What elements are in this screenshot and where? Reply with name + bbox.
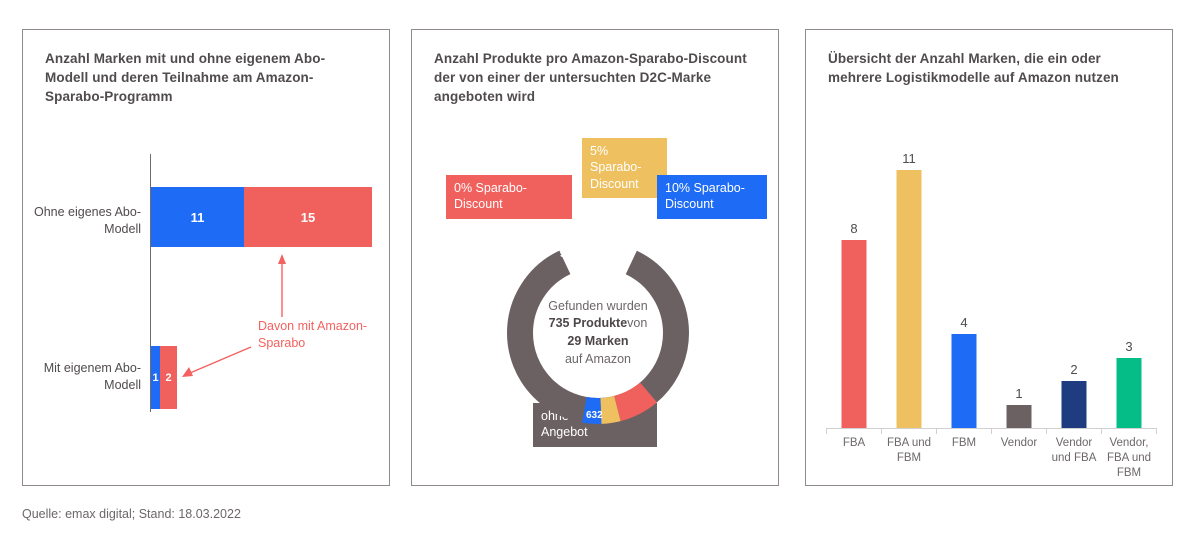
donut-center-produkte: 735 Produkte: [549, 316, 628, 330]
chart3-tick-5: [1101, 428, 1102, 434]
donut-value-10-percent: 25: [613, 251, 624, 262]
donut-value-0-percent: 53: [560, 249, 571, 260]
chart3-value-fba: 8: [850, 221, 857, 236]
panel-logistikmodelle: Übersicht der Anzahl Marken, die ein ode…: [805, 29, 1173, 486]
callout-5-percent: 5% Sparabo-Discount: [582, 138, 667, 198]
chart3-bar-fba-und-fbm: [897, 170, 922, 428]
chart1-annotation-text: Davon mit Amazon-Sparabo: [258, 318, 389, 351]
chart3-value-vendor-und-fba: 2: [1070, 362, 1077, 377]
chart1-category-label-2: Mit eigenem Abo-Modell: [31, 360, 141, 393]
chart3-group-vendor-fba-und-fbm: 3: [1103, 170, 1155, 428]
chart3-value-fbm: 4: [960, 315, 967, 330]
chart3-group-vendor: 1: [993, 170, 1045, 428]
chart3-value-vendor-fba-und-fbm: 3: [1125, 339, 1132, 354]
chart3-bar-fbm: [952, 334, 977, 428]
chart3-catlabel-fba: FBA: [826, 436, 882, 451]
chart1-stacked-row-1: 11 15: [151, 187, 372, 247]
chart3-tick-0: [826, 428, 827, 434]
chart1-category-label-1: Ohne eigenes Abo-Modell: [31, 204, 141, 237]
panel-1-title: Anzahl Marken mit und ohne eigenem Abo-M…: [45, 49, 365, 106]
chart3-tick-1: [881, 428, 882, 434]
donut-value-ohne-sparabo: 632: [586, 410, 603, 421]
chart3-group-vendor-und-fba: 2: [1048, 170, 1100, 428]
donut-value-5-percent: 25: [593, 243, 604, 254]
chart3-catlabel-fbm: FBM: [936, 436, 992, 451]
chart3-bar-vendor-und-fba: [1062, 381, 1087, 428]
chart3-tick-3: [991, 428, 992, 434]
chart3-value-vendor: 1: [1015, 386, 1022, 401]
chart3-group-fba-und-fbm: 11: [883, 170, 935, 428]
chart3-bar-fba: [842, 240, 867, 428]
chart1-bar-blue-1: 11: [151, 187, 244, 247]
chart3-catlabel-vendor: Vendor: [991, 436, 1047, 451]
chart3-value-fba-und-fbm: 11: [902, 151, 916, 166]
source-footer: Quelle: emax digital; Stand: 18.03.2022: [22, 507, 241, 521]
infographic-page: Anzahl Marken mit und ohne eigenem Abo-M…: [0, 0, 1184, 533]
callout-10-percent: 10% Sparabo-Discount: [657, 175, 767, 219]
panel-sparabo-discount: Anzahl Produkte pro Amazon-Sparabo-Disco…: [411, 29, 779, 486]
donut-center-text: Gefunden wurden 735 Produktevon 29 Marke…: [498, 233, 698, 433]
chart3-catlabel-fba-und-fbm: FBA und FBM: [881, 436, 937, 466]
panel-2-title: Anzahl Produkte pro Amazon-Sparabo-Disco…: [434, 49, 754, 106]
chart1-bar-blue-2: 1: [151, 346, 160, 409]
chart3-catlabel-vendor-fba-und-fbm: Vendor, FBA und FBM: [1101, 436, 1157, 482]
donut-center-line3: 29 Marken: [567, 333, 628, 351]
chart1-stacked-row-2: 1 2: [151, 346, 177, 409]
donut-center-line1: Gefunden wurden: [548, 298, 647, 316]
chart3-group-fba: 8: [828, 170, 880, 428]
donut-center-line4: auf Amazon: [565, 351, 631, 369]
donut-chart: Gefunden wurden 735 Produktevon 29 Marke…: [498, 233, 698, 433]
chart1-bar-red-2: 2: [160, 346, 177, 409]
chart3-tick-2: [936, 428, 937, 434]
chart3-group-fbm: 4: [938, 170, 990, 428]
chart3-catlabel-vendor-und-fba: Vendor und FBA: [1046, 436, 1102, 466]
panel-abo-modell: Anzahl Marken mit und ohne eigenem Abo-M…: [22, 29, 390, 486]
donut-center-line2: 735 Produktevon: [549, 315, 648, 333]
chart3-bar-vendor-fba-und-fbm: [1117, 358, 1142, 428]
donut-center-von: von: [627, 316, 647, 330]
callout-0-percent: 0% Sparabo-Discount: [446, 175, 572, 219]
donut-center-marken: 29 Marken: [567, 334, 628, 348]
chart1-bar-red-1: 15: [244, 187, 372, 247]
chart3-tick-4: [1046, 428, 1047, 434]
chart3-tick-6: [1156, 428, 1157, 434]
panel-3-title: Übersicht der Anzahl Marken, die ein ode…: [828, 49, 1148, 87]
chart3-bar-vendor: [1007, 405, 1032, 429]
